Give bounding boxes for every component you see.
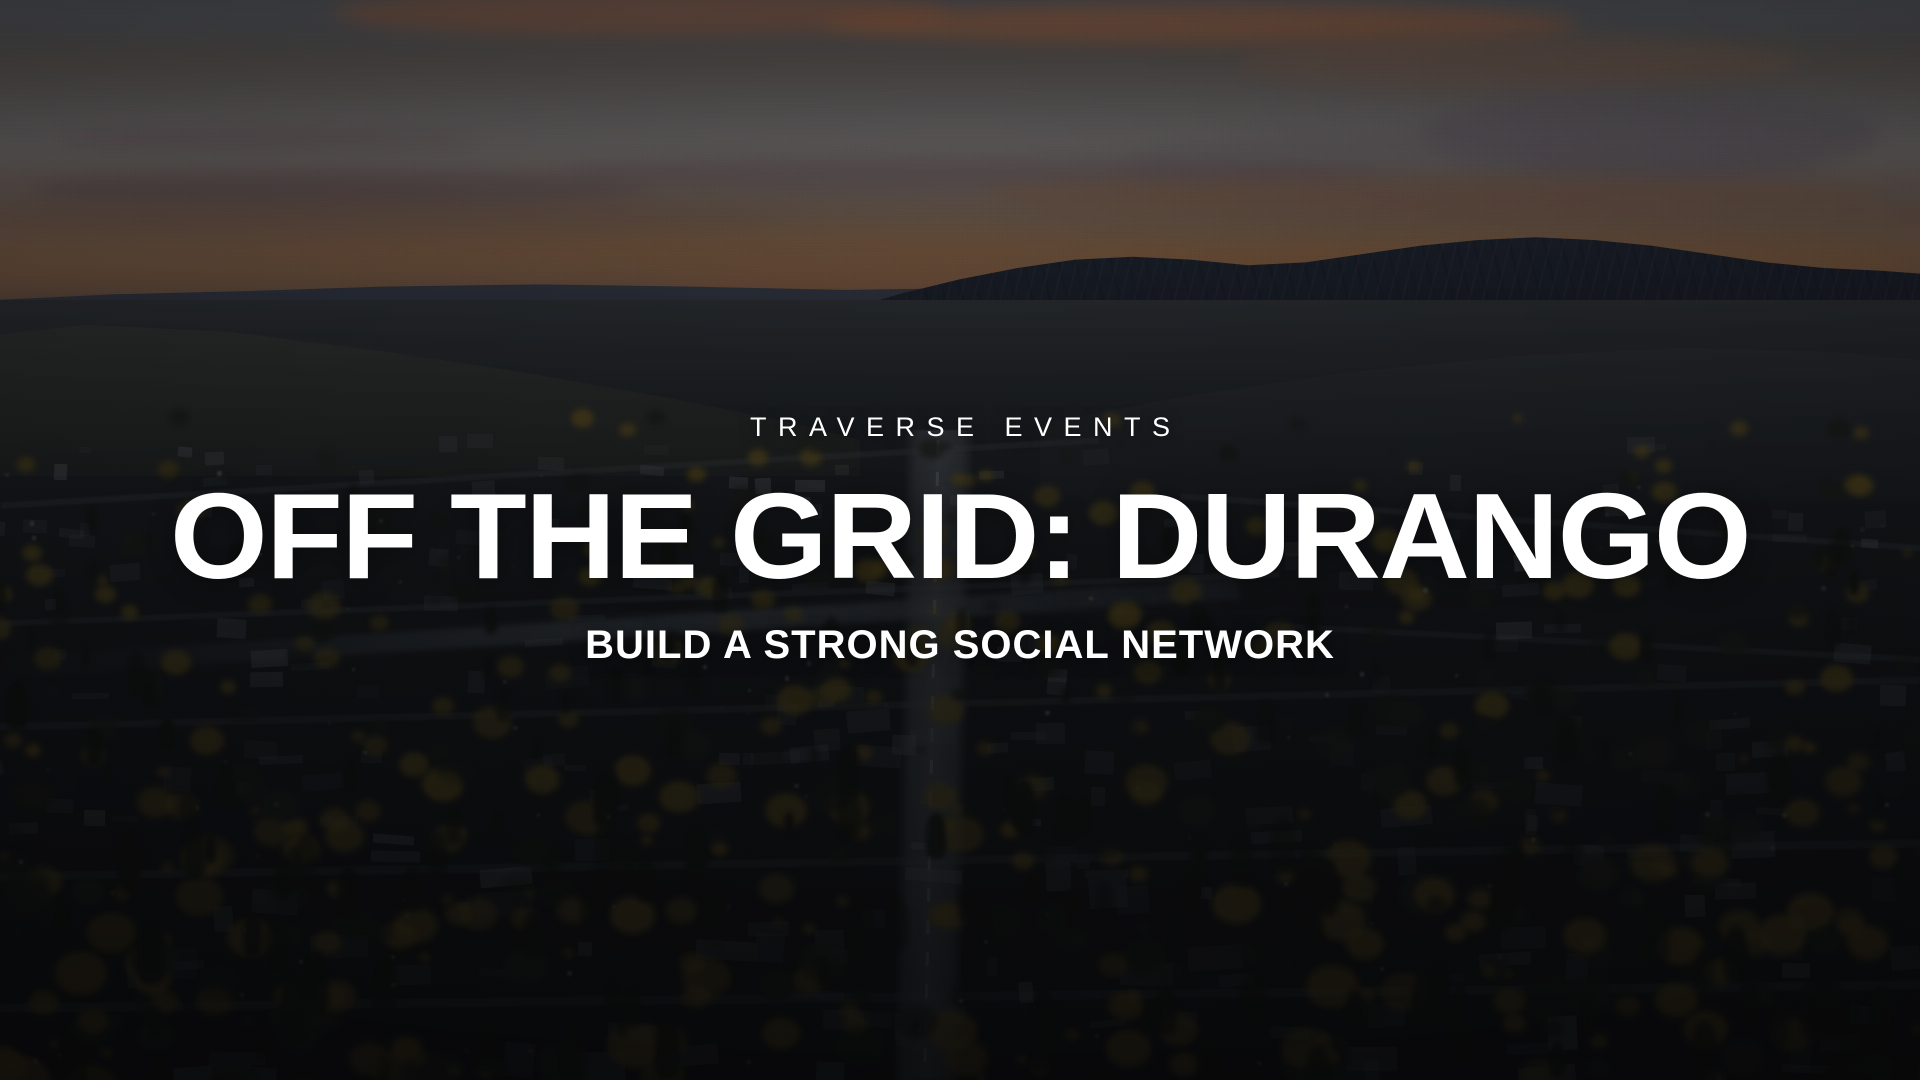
hero-headline: OFF THE GRID: DURANGO [170,475,1750,597]
hero-content: TRAVERSE EVENTS OFF THE GRID: DURANGO BU… [0,0,1920,1080]
hero-eyebrow: TRAVERSE EVENTS [738,414,1181,441]
hero-banner: TRAVERSE EVENTS OFF THE GRID: DURANGO BU… [0,0,1920,1080]
hero-subheadline: BUILD A STRONG SOCIAL NETWORK [585,623,1335,667]
